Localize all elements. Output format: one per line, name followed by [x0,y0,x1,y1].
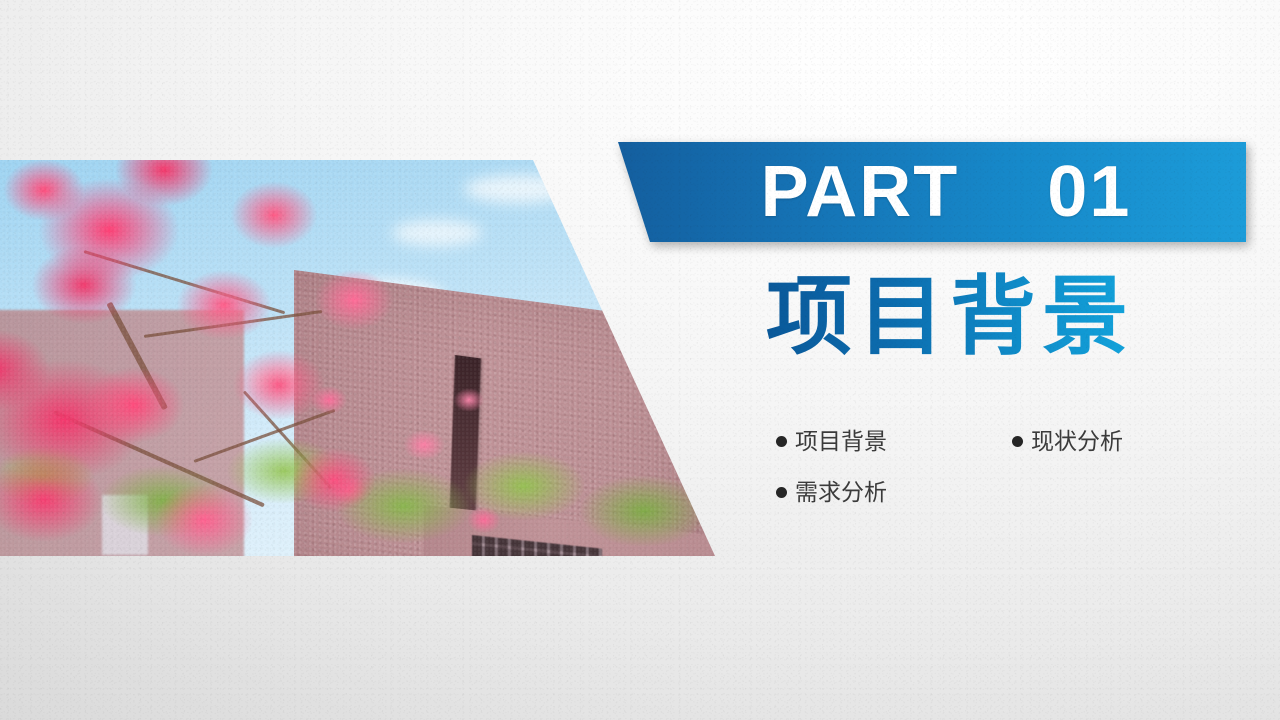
bullet-dot-icon [776,487,787,498]
hero-photo [0,160,716,556]
agenda-item-label: 需求分析 [795,481,887,504]
photo-image [0,160,716,556]
agenda-item-label: 现状分析 [1031,430,1123,453]
slide-canvas: PART 01 项目背景 项目背景 现状分析 需求分析 [0,0,1280,720]
photo-blossoms-main [0,160,454,556]
agenda-item-label: 项目背景 [795,430,887,453]
section-title: 项目背景 [766,269,1134,365]
part-banner: PART 01 [612,142,1246,242]
agenda-item-project-background[interactable]: 项目背景 [776,430,1012,453]
agenda-item-status-analysis[interactable]: 现状分析 [1012,430,1123,453]
agenda-row: 项目背景 现状分析 [776,430,1196,453]
agenda-row: 需求分析 [776,481,1196,504]
part-banner-label: PART 01 [612,142,1246,242]
cloud-icon [464,175,574,203]
bullet-dot-icon [1012,436,1023,447]
agenda-list: 项目背景 现状分析 需求分析 [776,430,1196,532]
bullet-dot-icon [776,436,787,447]
agenda-item-requirement-analysis[interactable]: 需求分析 [776,481,1012,504]
